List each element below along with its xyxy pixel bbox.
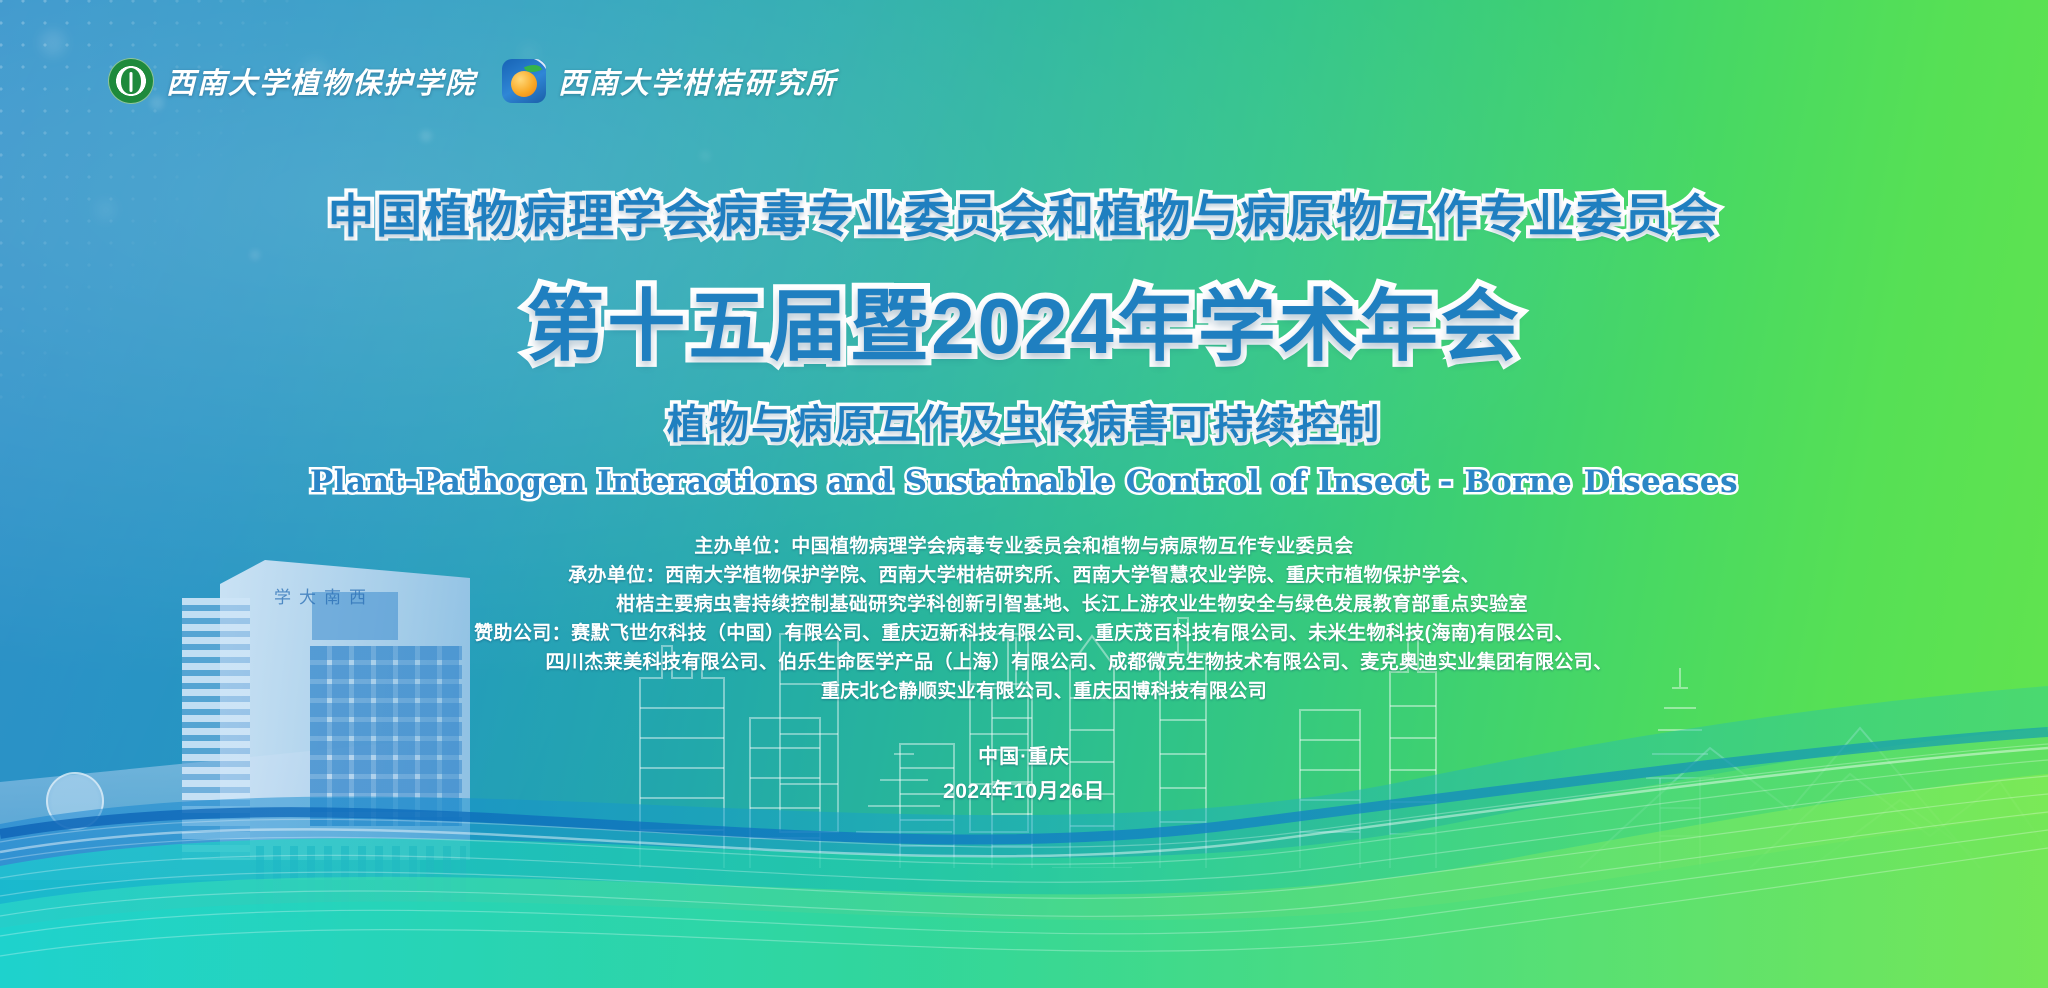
citrus-fruit-icon [511, 71, 537, 97]
headline-block: 中国植物病理学会病毒专业委员会和植物与病原物互作专业委员会 第十五届暨2024年… [0, 180, 2048, 500]
main-title: 第十五届暨2024年学术年会 [0, 264, 2048, 376]
logo-plant-protection-label: 西南大学植物保护学院 [166, 60, 476, 102]
sponsor-row-2: 四川杰莱美科技有限公司、伯乐生命医学产品（上海）有限公司、成都微克生物技术有限公… [0, 648, 2048, 677]
theme-title: 植物与病原互作及虫传病害可持续控制 [0, 392, 2048, 450]
logo-citrus-institute: 西南大学柑桔研究所 [502, 59, 837, 103]
event-place-date: 中国·重庆 2024年10月26日 [0, 740, 2048, 805]
bokeh-dot [40, 30, 66, 56]
sponsor-row-3: 重庆北仑静顺实业有限公司、重庆因博科技有限公司 [0, 677, 2048, 706]
coorganizer-row: 承办单位：西南大学植物保护学院、西南大学柑桔研究所、西南大学智慧农业学院、重庆市… [0, 561, 2048, 590]
ribbon-layer-3 [0, 774, 2048, 988]
sponsor-label: 赞助公司： [474, 619, 571, 648]
building-colonnade [256, 846, 466, 918]
committee-title: 中国植物病理学会病毒专业委员会和植物与病原物互作专业委员会 [0, 180, 2048, 246]
logo-plant-protection: 西南大学植物保护学院 [108, 58, 476, 104]
ribbon-layer-4 [0, 814, 2048, 988]
conference-banner: 西南大学 [0, 0, 2048, 988]
event-place: 中国·重庆 [0, 740, 2048, 769]
coorganizer-label: 承办单位： [568, 561, 665, 590]
swu-citrus-institute-seal-icon [502, 59, 546, 103]
bokeh-dot [700, 150, 711, 161]
ribbon-layer-1 [0, 686, 2048, 988]
logo-bar: 西南大学植物保护学院 西南大学柑桔研究所 [108, 58, 837, 104]
bokeh-dot [420, 130, 432, 142]
host-value: 中国植物病理学会病毒专业委员会和植物与病原物互作专业委员会 [791, 536, 1354, 557]
logo-citrus-institute-label: 西南大学柑桔研究所 [558, 60, 837, 102]
sponsor-value: 赛默飞世尔科技（中国）有限公司、重庆迈新科技有限公司、重庆茂百科技有限公司、未米… [571, 623, 1574, 644]
host-label: 主办单位： [694, 532, 791, 561]
event-date: 2024年10月26日 [0, 775, 2048, 805]
organizer-block: 主办单位：中国植物病理学会病毒专业委员会和植物与病原物互作专业委员会 承办单位：… [0, 532, 2048, 706]
coorganizer-row-2: 柑桔主要病虫害持续控制基础研究学科创新引智基地、长江上游农业生物安全与绿色发展教… [0, 590, 2048, 619]
host-row: 主办单位：中国植物病理学会病毒专业委员会和植物与病原物互作专业委员会 [0, 532, 2048, 561]
sponsor-row: 赞助公司：赛默飞世尔科技（中国）有限公司、重庆迈新科技有限公司、重庆茂百科技有限… [0, 619, 2048, 648]
theme-title-english: Plant-Pathogen Interactions and Sustaina… [0, 464, 2048, 500]
swu-plant-protection-seal-icon [108, 58, 154, 104]
coorganizer-value: 西南大学植物保护学院、西南大学柑桔研究所、西南大学智慧农业学院、重庆市植物保护学… [665, 565, 1480, 586]
